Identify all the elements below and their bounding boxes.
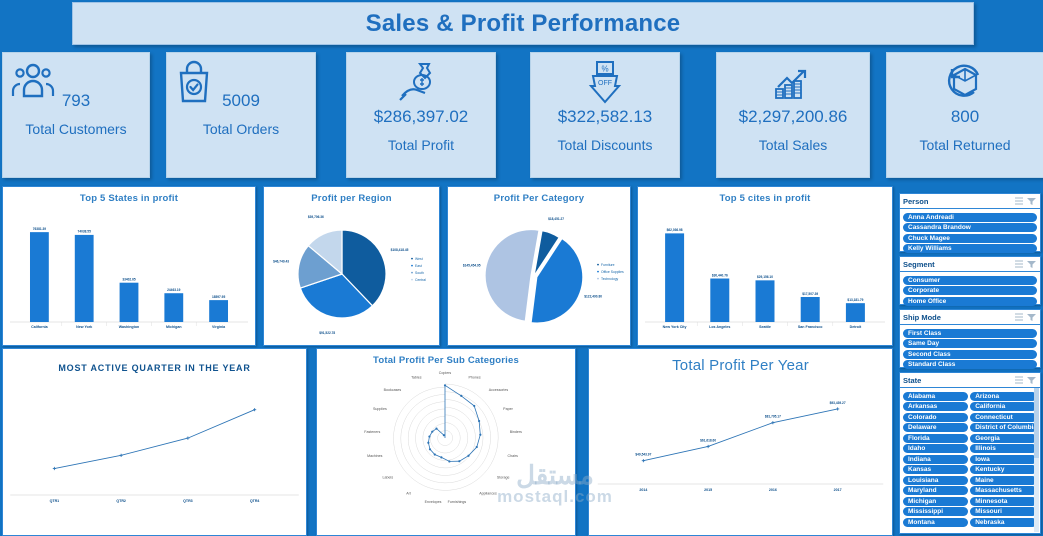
slicer-item[interactable]: Massachusetts: [970, 486, 1037, 495]
chart-panel-top5-states[interactable]: Top 5 States in profit 76381.39Californi…: [2, 186, 256, 346]
slicer-item[interactable]: Maryland: [903, 486, 968, 495]
svg-text:$18,451.27: $18,451.27: [548, 217, 564, 221]
svg-text:Michigan: Michigan: [166, 325, 182, 329]
svg-text:$13,181.79: $13,181.79: [847, 298, 863, 302]
svg-text:33402.65: 33402.65: [122, 278, 136, 282]
customers-icon: [11, 59, 55, 105]
clear-filter-icon[interactable]: [1026, 259, 1037, 269]
multi-select-icon[interactable]: [1014, 375, 1025, 385]
slicer-item[interactable]: Kentucky: [970, 465, 1037, 474]
chart-most-active-quarter: QTR1QTR2QTR3QTR4: [3, 373, 306, 533]
kpi-card-total-profit[interactable]: $286,397.02 Total Profit: [346, 52, 496, 178]
slicer-item[interactable]: Chuck Magee: [903, 234, 1037, 243]
svg-text:$49,543.97: $49,543.97: [635, 453, 651, 457]
svg-text:Furniture: Furniture: [601, 263, 615, 267]
svg-text:West: West: [415, 257, 423, 261]
slicer-item[interactable]: Connecticut: [970, 413, 1037, 422]
slicer-item[interactable]: Kelly Williams: [903, 244, 1037, 253]
slicer-item[interactable]: Michigan: [903, 497, 968, 506]
kpi-card-total-discounts[interactable]: % OFF $322,582.13 Total Discounts: [530, 52, 680, 178]
slicer-state-column-left: AlabamaArkansasColoradoDelawareFloridaId…: [903, 390, 968, 528]
slicer-item[interactable]: First Class: [903, 329, 1037, 338]
kpi-label: Total Orders: [203, 121, 279, 137]
sales-growth-icon: [772, 59, 814, 105]
slicer-item[interactable]: Idaho: [903, 444, 968, 453]
kpi-row: 793 Total Customers 5009 Total Orders $2…: [0, 52, 1043, 176]
slicer-items: First Class Same Day Second Class Standa…: [900, 325, 1040, 373]
slicer-title: Person: [903, 197, 1013, 206]
kpi-card-total-returned[interactable]: 800 Total Returned: [886, 52, 1043, 178]
svg-text:Storage: Storage: [497, 475, 510, 479]
svg-text:$46,749.43: $46,749.43: [273, 259, 289, 263]
chart-total-profit-per-year: 2014$49,543.972015$61,618.602016$81,795.…: [589, 374, 892, 526]
svg-text:$39,706.36: $39,706.36: [308, 215, 324, 219]
slicer-title: Ship Mode: [903, 313, 1013, 322]
kpi-card-total-sales[interactable]: $2,297,200.86 Total Sales: [716, 52, 870, 178]
svg-text:Los Angeles: Los Angeles: [709, 325, 730, 329]
svg-text:Chairs: Chairs: [508, 454, 519, 458]
slicer-item[interactable]: Second Class: [903, 350, 1037, 359]
clear-filter-icon[interactable]: [1026, 375, 1037, 385]
kpi-value: 793: [62, 91, 90, 111]
kpi-card-total-customers[interactable]: 793 Total Customers: [2, 52, 150, 178]
svg-text:Furnishings: Furnishings: [448, 500, 467, 504]
svg-text:$93,439.27: $93,439.27: [830, 401, 846, 405]
slicer-item[interactable]: Louisiana: [903, 476, 968, 485]
svg-text:QTR1: QTR1: [50, 499, 60, 503]
chart-title: Profit Per Category: [448, 193, 630, 204]
slicer-state-scrollbar[interactable]: [1034, 388, 1039, 532]
kpi-value: $322,582.13: [558, 107, 653, 127]
svg-text:%: %: [601, 65, 608, 74]
slicer-state-column-right: ArizonaCaliforniaConnecticutDistrict of …: [970, 390, 1037, 528]
svg-text:Art: Art: [406, 491, 411, 495]
slicer-item[interactable]: Arkansas: [903, 402, 968, 411]
slicer-item[interactable]: Indiana: [903, 455, 968, 464]
svg-text:Fasteners: Fasteners: [364, 430, 380, 434]
kpi-value: 800: [951, 107, 979, 127]
svg-text:New York: New York: [76, 325, 92, 329]
svg-text:$29,156.10: $29,156.10: [757, 275, 773, 279]
svg-text:QTR4: QTR4: [250, 499, 260, 503]
kpi-value: $2,297,200.86: [739, 107, 848, 127]
svg-text:2014: 2014: [639, 488, 647, 492]
chart-title: Profit per Region: [264, 193, 439, 204]
discount-icon: % OFF: [588, 59, 622, 105]
chart-profit-per-category: $18,451.27$122,490.80$145,454.95Furnitur…: [448, 204, 630, 344]
slicer-item[interactable]: Colorado: [903, 413, 968, 422]
svg-text:76381.39: 76381.39: [33, 227, 47, 231]
slicer-item[interactable]: Montana: [903, 518, 968, 527]
slicer-item[interactable]: Corporate: [903, 286, 1037, 295]
slicer-item[interactable]: District of Columbia: [970, 423, 1037, 432]
chart-title: MOST ACTIVE QUARTER IN THE YEAR: [3, 363, 306, 373]
slicer-person[interactable]: Person Anna Andreadi Cassandra Brandow C…: [899, 193, 1041, 252]
slicer-item[interactable]: Same Day: [903, 339, 1037, 348]
chart-title: Top 5 States in profit: [3, 193, 255, 204]
svg-text:Washington: Washington: [119, 325, 139, 329]
slicer-item[interactable]: Missouri: [970, 507, 1037, 516]
svg-text:2015: 2015: [704, 488, 712, 492]
slicer-item[interactable]: Georgia: [970, 434, 1037, 443]
dashboard-title-bar: Sales & Profit Performance: [72, 2, 974, 45]
slicer-header: Person: [900, 194, 1040, 209]
slicer-items: Consumer Corporate Home Office: [900, 272, 1040, 309]
svg-text:Central: Central: [415, 278, 426, 282]
slicer-sidebar: Person Anna Andreadi Cassandra Brandow C…: [895, 186, 1043, 536]
svg-text:$91,522.78: $91,522.78: [319, 331, 335, 335]
chart-profit-sub-categories: CopiersPhonesAccessoriesPaperBindersChai…: [317, 366, 575, 534]
page-title: Sales & Profit Performance: [366, 10, 681, 38]
slicer-item[interactable]: Florida: [903, 434, 968, 443]
slicer-header: State: [900, 373, 1040, 388]
svg-text:Phones: Phones: [468, 376, 480, 380]
svg-text:Machines: Machines: [367, 454, 383, 458]
slicer-header: Ship Mode: [900, 310, 1040, 325]
svg-text:OFF: OFF: [598, 80, 612, 87]
profit-hand-icon: [398, 59, 444, 105]
svg-text:Bookcases: Bookcases: [384, 388, 402, 392]
slicer-item[interactable]: Consumer: [903, 276, 1037, 285]
chart-top5-states: 76381.39California74038.55New York33402.…: [3, 204, 255, 344]
svg-text:Paper: Paper: [503, 407, 513, 411]
svg-text:Envelopes: Envelopes: [425, 500, 442, 504]
slicer-item[interactable]: Illinois: [970, 444, 1037, 453]
svg-text:24463.19: 24463.19: [167, 288, 181, 292]
chart-panel-profit-per-region[interactable]: Profit per Region $108,418.45$91,522.78$…: [263, 186, 440, 346]
svg-text:Supplies: Supplies: [373, 407, 387, 411]
slicer-item[interactable]: Home Office: [903, 297, 1037, 306]
slicer-item[interactable]: Cassandra Brandow: [903, 223, 1037, 232]
svg-text:South: South: [415, 271, 424, 275]
svg-text:Technology: Technology: [601, 277, 618, 281]
return-box-icon: [944, 59, 986, 105]
svg-text:Virginia: Virginia: [212, 325, 226, 329]
slicer-item[interactable]: Standard Class: [903, 360, 1037, 369]
slicer-item[interactable]: Maine: [970, 476, 1037, 485]
kpi-label: Total Discounts: [558, 137, 653, 153]
chart-title: Total Profit Per Year: [589, 357, 892, 374]
slicer-item[interactable]: Delaware: [903, 423, 968, 432]
scrollbar-thumb[interactable]: [1034, 388, 1039, 458]
slicer-title: State: [903, 376, 1013, 385]
chart-panel-total-profit-per-year[interactable]: Total Profit Per Year 2014$49,543.972015…: [588, 348, 893, 536]
slicer-header: Segment: [900, 257, 1040, 272]
kpi-value: $286,397.02: [374, 107, 469, 127]
svg-text:2016: 2016: [769, 488, 777, 492]
slicer-item[interactable]: Kansas: [903, 465, 968, 474]
svg-text:QTR3: QTR3: [183, 499, 193, 503]
chart-top5-cities: $62,036.98New York City$30,440.76Los Ang…: [638, 204, 892, 344]
svg-text:$62,036.98: $62,036.98: [667, 228, 683, 232]
kpi-label: Total Returned: [919, 137, 1010, 153]
chart-title: Top 5 cites in profit: [638, 193, 892, 204]
slicer-segment[interactable]: Segment Consumer Corporate Home Office: [899, 256, 1041, 305]
svg-text:New York City: New York City: [663, 325, 687, 329]
svg-text:$30,440.76: $30,440.76: [712, 273, 728, 277]
kpi-card-total-orders[interactable]: 5009 Total Orders: [166, 52, 316, 178]
slicer-item[interactable]: Anna Andreadi: [903, 213, 1037, 222]
slicer-item[interactable]: Iowa: [970, 455, 1037, 464]
slicer-title: Segment: [903, 260, 1013, 269]
chart-panel-profit-sub-categories[interactable]: Total Profit Per Sub Categories CopiersP…: [316, 348, 576, 536]
kpi-label: Total Profit: [388, 137, 454, 153]
orders-bag-icon: [175, 59, 213, 105]
slicer-ship-mode[interactable]: Ship Mode First Class Same Day Second Cl…: [899, 309, 1041, 368]
svg-text:$145,454.95: $145,454.95: [463, 264, 481, 268]
kpi-label: Total Customers: [25, 121, 126, 137]
svg-text:Detroit: Detroit: [850, 325, 862, 329]
svg-text:Appliances: Appliances: [479, 491, 497, 495]
chart-panel-top5-cities[interactable]: Top 5 cites in profit $62,036.98New York…: [637, 186, 893, 346]
svg-text:Seattle: Seattle: [759, 325, 771, 329]
slicer-item[interactable]: Alabama: [903, 392, 968, 401]
multi-select-icon[interactable]: [1014, 196, 1025, 206]
chart-title: Total Profit Per Sub Categories: [317, 355, 575, 366]
slicer-item[interactable]: Nebraska: [970, 518, 1037, 527]
clear-filter-icon[interactable]: [1026, 312, 1037, 322]
multi-select-icon[interactable]: [1014, 312, 1025, 322]
slicer-item[interactable]: California: [970, 402, 1037, 411]
svg-text:Accessories: Accessories: [489, 388, 509, 392]
slicer-item[interactable]: Mississippi: [903, 507, 968, 516]
svg-text:$108,418.45: $108,418.45: [391, 248, 409, 252]
svg-text:$17,507.39: $17,507.39: [802, 292, 818, 296]
slicer-state-grid: AlabamaArkansasColoradoDelawareFloridaId…: [900, 388, 1040, 528]
svg-text:East: East: [415, 264, 422, 268]
svg-text:Labels: Labels: [383, 475, 394, 479]
kpi-label: Total Sales: [759, 137, 827, 153]
chart-profit-per-region: $108,418.45$91,522.78$46,749.43$39,706.3…: [264, 204, 439, 344]
svg-text:QTR2: QTR2: [116, 499, 126, 503]
svg-text:Copiers: Copiers: [439, 371, 452, 375]
svg-text:74038.55: 74038.55: [78, 230, 92, 234]
multi-select-icon[interactable]: [1014, 259, 1025, 269]
svg-text:Binders: Binders: [510, 430, 522, 434]
svg-text:$122,490.80: $122,490.80: [584, 295, 602, 299]
svg-text:18597.95: 18597.95: [212, 295, 226, 299]
chart-panel-profit-per-category[interactable]: Profit Per Category $18,451.27$122,490.8…: [447, 186, 631, 346]
kpi-value: 5009: [222, 91, 260, 111]
svg-text:San Francisco: San Francisco: [798, 325, 823, 329]
svg-text:Tables: Tables: [411, 376, 422, 380]
svg-text:Office Supplies: Office Supplies: [601, 270, 624, 274]
svg-text:California: California: [31, 325, 49, 329]
slicer-items: Anna Andreadi Cassandra Brandow Chuck Ma…: [900, 209, 1040, 257]
svg-text:$81,795.17: $81,795.17: [765, 415, 781, 419]
slicer-item[interactable]: Minnesota: [970, 497, 1037, 506]
slicer-state[interactable]: State AlabamaArkansasColoradoDelawareFlo…: [899, 372, 1041, 534]
svg-text:$61,618.60: $61,618.60: [700, 438, 716, 442]
chart-panel-most-active-quarter[interactable]: MOST ACTIVE QUARTER IN THE YEAR QTR1QTR2…: [2, 348, 307, 536]
svg-text:2017: 2017: [834, 488, 842, 492]
slicer-item[interactable]: Arizona: [970, 392, 1037, 401]
clear-filter-icon[interactable]: [1026, 196, 1037, 206]
